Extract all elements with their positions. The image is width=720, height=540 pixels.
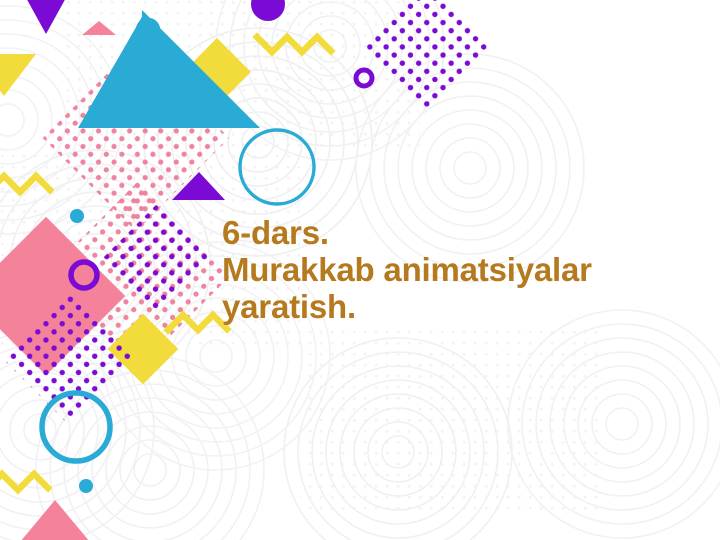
purple-dotted-diamond-top-right: [360, 0, 490, 113]
purple-ring-top-right: [356, 70, 372, 86]
title-line-2: Murakkab animatsiyalar: [222, 251, 708, 288]
cyan-dot-left: [70, 209, 84, 223]
purple-triangle-top-left: [14, 0, 78, 34]
slide-canvas: 6-dars. Murakkab animatsiyalar yaratish.: [0, 0, 720, 540]
yellow-zigzag-bottom: [0, 474, 48, 490]
cyan-circle-outline-center: [240, 130, 314, 204]
title-line-1: 6-dars.: [222, 214, 708, 251]
pink-triangle-bottom: [20, 500, 90, 540]
pink-triangle-top: [82, 21, 116, 35]
title-line-3: yaratish.: [222, 288, 708, 325]
yellow-zigzag-top: [257, 37, 331, 52]
yellow-zigzag-left: [0, 176, 50, 192]
yellow-triangle-left: [0, 54, 36, 96]
slide-title: 6-dars. Murakkab animatsiyalar yaratish.: [222, 214, 708, 325]
purple-circle-top: [251, 0, 285, 21]
cyan-dot-bottom: [79, 479, 93, 493]
